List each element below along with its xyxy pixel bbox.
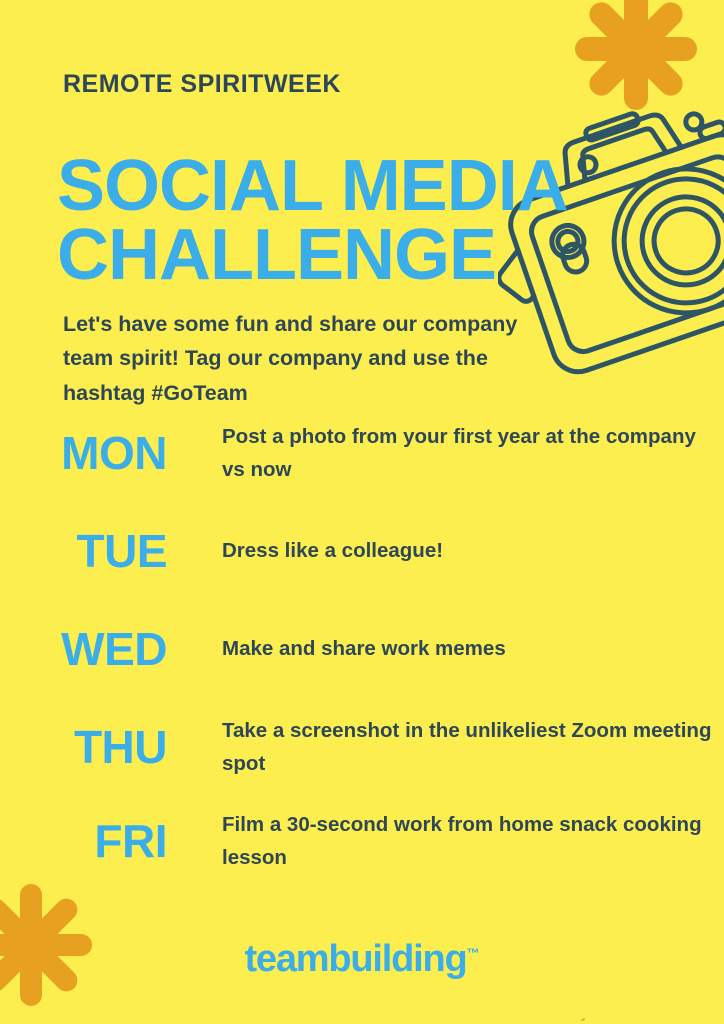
schedule-row-mon: MON Post a photo from your first year at… xyxy=(0,404,724,502)
schedule-row-tue: TUE Dress like a colleague! xyxy=(0,502,724,600)
day-description-wed: Make and share work memes xyxy=(167,632,724,665)
schedule-row-fri: FRI Film a 30-second work from home snac… xyxy=(0,796,724,886)
intro-paragraph: Let's have some fun and share our compan… xyxy=(63,307,563,411)
day-description-thu: Take a screenshot in the unlikeliest Zoo… xyxy=(167,714,724,780)
day-description-tue: Dress like a colleague! xyxy=(167,534,724,567)
poster-canvas: REMOTE SPIRITWEEK SOCIAL MEDIA CHALLENGE… xyxy=(0,0,724,1024)
cropped-footer-text: Social Media Free Days xyxy=(0,1018,724,1024)
day-label-thu: THU xyxy=(0,724,167,770)
day-label-tue: TUE xyxy=(0,528,167,574)
page-title: SOCIAL MEDIA CHALLENGE xyxy=(57,152,617,290)
schedule-row-wed: WED Make and share work memes xyxy=(0,600,724,698)
starburst-icon xyxy=(545,0,724,111)
schedule-list: MON Post a photo from your first year at… xyxy=(0,404,724,886)
day-description-mon: Post a photo from your first year at the… xyxy=(167,420,724,486)
day-description-fri: Film a 30-second work from home snack co… xyxy=(167,808,724,874)
schedule-row-thu: THU Take a screenshot in the unlikeliest… xyxy=(0,698,724,796)
day-label-mon: MON xyxy=(0,430,167,476)
eyebrow-text: REMOTE SPIRITWEEK xyxy=(63,72,341,97)
teambuilding-logo: teambuilding™ xyxy=(0,940,724,978)
headline-line-2: CHALLENGE xyxy=(57,221,617,290)
day-label-wed: WED xyxy=(0,626,167,672)
day-label-fri: FRI xyxy=(0,818,167,864)
trademark-symbol: ™ xyxy=(467,945,480,960)
headline-line-1: SOCIAL MEDIA xyxy=(57,146,568,226)
logo-wordmark: teambuilding xyxy=(244,938,466,980)
cropped-footer-label: Social Media Free Days xyxy=(430,1018,597,1022)
